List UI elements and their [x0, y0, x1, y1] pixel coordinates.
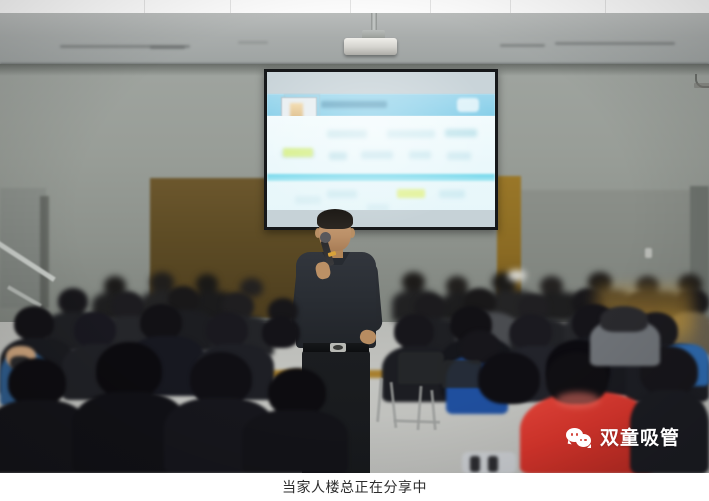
page-root: 双童吸管 当家人楼总正在分享中 [0, 0, 709, 501]
presentation-photo: 双童吸管 [0, 0, 709, 473]
caption-text: 当家人楼总正在分享中 [282, 477, 427, 497]
photo-caption: 当家人楼总正在分享中 [0, 473, 709, 501]
watermark-text: 双童吸管 [600, 428, 680, 449]
watermark: 双童吸管 [566, 428, 680, 449]
audience [0, 0, 709, 473]
wechat-icon [566, 428, 593, 449]
